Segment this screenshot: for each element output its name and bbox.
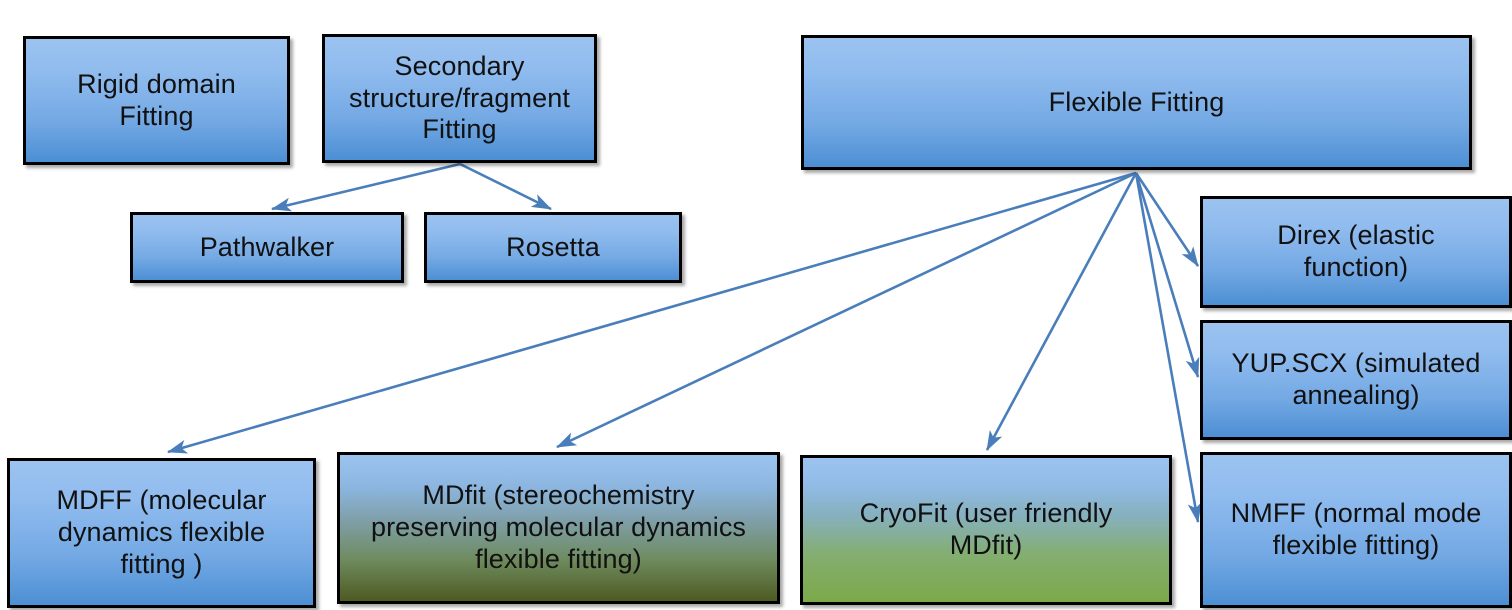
node-rigid-domain-fitting[interactable]: Rigid domain Fitting: [23, 36, 290, 165]
node-nmff[interactable]: NMFF (normal mode flexible fitting): [1200, 452, 1512, 608]
node-pathwalker[interactable]: Pathwalker: [130, 212, 404, 283]
edge-flexible-to-direx: [1136, 173, 1198, 266]
node-mdff[interactable]: MDFF (molecular dynamics flexible fittin…: [7, 458, 316, 608]
node-label: YUP.SCX (simulated annealing): [1211, 348, 1501, 412]
node-label: Rosetta: [435, 232, 671, 264]
node-label: MDFF (molecular dynamics flexible fittin…: [18, 485, 305, 581]
edge-flexible-to-yupscx: [1136, 173, 1198, 377]
node-flexible-fitting[interactable]: Flexible Fitting: [801, 35, 1472, 170]
edge-flexible-to-cryofit: [987, 173, 1136, 450]
node-label: Secondary structure/fragment Fitting: [333, 51, 586, 147]
node-yup-scx[interactable]: YUP.SCX (simulated annealing): [1200, 320, 1512, 440]
node-cryofit[interactable]: CryoFit (user friendly MDfit): [800, 455, 1172, 605]
node-label: CryoFit (user friendly MDfit): [811, 498, 1161, 562]
diagram-canvas: Rigid domain Fitting Secondary structure…: [0, 0, 1512, 610]
node-label: Rigid domain Fitting: [34, 69, 279, 133]
node-direx[interactable]: Direx (elastic function): [1200, 196, 1512, 308]
node-mdfit[interactable]: MDfit (stereochemistry preserving molecu…: [337, 452, 780, 604]
node-label: Flexible Fitting: [812, 87, 1461, 119]
node-label: Pathwalker: [141, 232, 393, 264]
node-label: Direx (elastic function): [1211, 220, 1501, 284]
edge-secondary-to-rosetta: [460, 164, 551, 209]
node-rosetta[interactable]: Rosetta: [424, 212, 682, 283]
node-secondary-structure-fragment-fitting[interactable]: Secondary structure/fragment Fitting: [322, 34, 597, 163]
node-label: NMFF (normal mode flexible fitting): [1211, 498, 1501, 562]
edge-secondary-to-pathwalker: [272, 164, 460, 209]
node-label: MDfit (stereochemistry preserving molecu…: [348, 480, 769, 576]
